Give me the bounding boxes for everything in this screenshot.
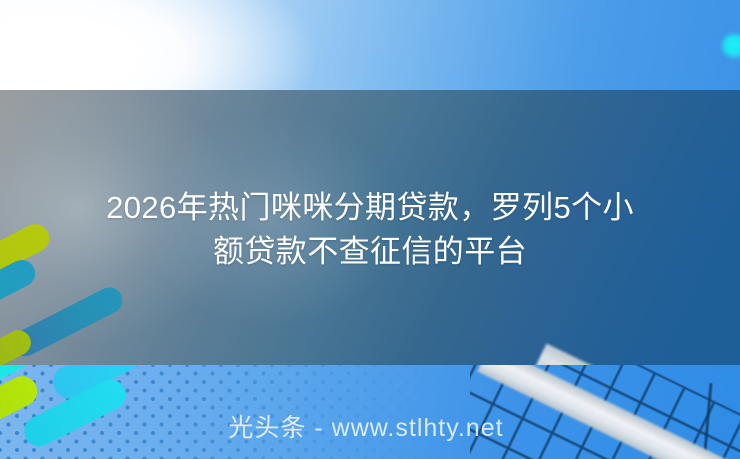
net-tape-upper-segment bbox=[533, 344, 740, 365]
watermark-text: 光头条 - www.stlhty.net bbox=[0, 412, 740, 444]
sky-glow-band bbox=[0, 0, 740, 90]
article-thumbnail-banner: 2026年热门咪咪分期贷款，罗列5个小 额贷款不查征信的平台 光头条 - www… bbox=[0, 0, 740, 459]
page-title: 2026年热门咪咪分期贷款，罗列5个小 额贷款不查征信的平台 bbox=[0, 186, 740, 274]
cyan-dot-icon bbox=[722, 34, 740, 58]
